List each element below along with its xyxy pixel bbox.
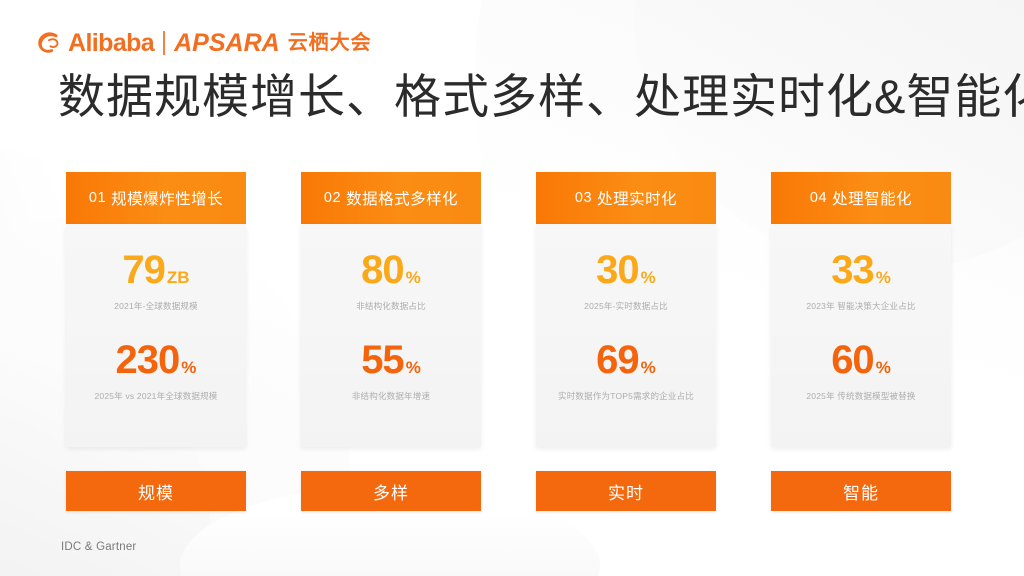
card-heading: 数据格式多样化 bbox=[346, 187, 458, 209]
conference-name-en: APSARA bbox=[174, 31, 280, 56]
stat-unit: % bbox=[181, 358, 196, 377]
stat-unit: % bbox=[641, 358, 656, 377]
card-number: 04 bbox=[810, 190, 827, 206]
stat-caption: 2025年 vs 2021年全球数据规模 bbox=[94, 390, 217, 402]
card-body: 30% 2025年-实时数据占比 69% 实时数据作为TOP5需求的企业占比 bbox=[536, 224, 716, 447]
card-header: 01 规模爆炸性增长 bbox=[66, 172, 246, 224]
card-body: 80% 非结构化数据占比 55% 非结构化数据年增速 bbox=[301, 224, 481, 447]
stat-secondary: 55% 非结构化数据年增速 bbox=[352, 340, 430, 402]
conference-name-cn: 云栖大会 bbox=[288, 33, 372, 53]
stat-card-group: 01 规模爆炸性增长 79ZB 2021年-全球数据规模 230% 2025年 … bbox=[66, 172, 961, 447]
stat-secondary: 60% 2025年 传统数据模型被替换 bbox=[806, 340, 915, 402]
card-header: 02 数据格式多样化 bbox=[301, 172, 481, 224]
stat-primary: 33% 2023年 智能决策大企业占比 bbox=[806, 250, 915, 312]
slide-content: Alibaba APSARA 云栖大会 数据规模增长、格式多样、处理实时化&智能… bbox=[0, 0, 1024, 576]
stat-primary: 30% 2025年-实时数据占比 bbox=[584, 250, 668, 312]
stat-primary: 79ZB 2021年-全球数据规模 bbox=[114, 250, 198, 312]
keyword-pill-variety[interactable]: 多样 bbox=[301, 471, 481, 511]
brand-name: Alibaba bbox=[68, 31, 154, 56]
stat-value: 33 bbox=[831, 250, 874, 290]
stat-value: 230 bbox=[116, 340, 180, 380]
stat-secondary: 230% 2025年 vs 2021年全球数据规模 bbox=[94, 340, 217, 402]
card-heading: 规模爆炸性增长 bbox=[111, 187, 223, 209]
card-number: 03 bbox=[575, 190, 592, 206]
keyword-pill-realtime[interactable]: 实时 bbox=[536, 471, 716, 511]
brand-logo-bar: Alibaba APSARA 云栖大会 bbox=[35, 28, 372, 58]
stat-secondary: 69% 实时数据作为TOP5需求的企业占比 bbox=[558, 340, 694, 402]
card-body: 79ZB 2021年-全球数据规模 230% 2025年 vs 2021年全球数… bbox=[66, 224, 246, 447]
stat-unit: % bbox=[876, 268, 891, 287]
stat-card: 04 处理智能化 33% 2023年 智能决策大企业占比 60% 2025年 传… bbox=[771, 172, 951, 447]
stat-unit: ZB bbox=[167, 268, 190, 287]
stat-value: 79 bbox=[122, 250, 165, 290]
stat-value: 60 bbox=[831, 340, 874, 380]
stat-value: 55 bbox=[361, 340, 404, 380]
stat-primary: 80% 非结构化数据占比 bbox=[356, 250, 426, 312]
stat-caption: 非结构化数据年增速 bbox=[352, 390, 430, 402]
stat-caption: 2025年 传统数据模型被替换 bbox=[806, 390, 915, 402]
stat-unit: % bbox=[876, 358, 891, 377]
card-number: 01 bbox=[89, 190, 106, 206]
card-number: 02 bbox=[324, 190, 341, 206]
stat-card: 01 规模爆炸性增长 79ZB 2021年-全球数据规模 230% 2025年 … bbox=[66, 172, 246, 447]
stat-unit: % bbox=[406, 268, 421, 287]
stat-caption: 非结构化数据占比 bbox=[356, 300, 426, 312]
source-footer: IDC & Gartner bbox=[61, 541, 136, 553]
keyword-pill-scale[interactable]: 规模 bbox=[66, 471, 246, 511]
keyword-pill-group: 规模 多样 实时 智能 bbox=[66, 471, 961, 511]
stat-value: 30 bbox=[596, 250, 639, 290]
stat-caption: 2023年 智能决策大企业占比 bbox=[806, 300, 915, 312]
stat-caption: 2025年-实时数据占比 bbox=[584, 300, 668, 312]
keyword-pill-intelligence[interactable]: 智能 bbox=[771, 471, 951, 511]
stat-value: 80 bbox=[361, 250, 404, 290]
card-header: 04 处理智能化 bbox=[771, 172, 951, 224]
stat-unit: % bbox=[641, 268, 656, 287]
brand-divider bbox=[163, 31, 165, 55]
stat-value: 69 bbox=[596, 340, 639, 380]
card-body: 33% 2023年 智能决策大企业占比 60% 2025年 传统数据模型被替换 bbox=[771, 224, 951, 447]
card-header: 03 处理实时化 bbox=[536, 172, 716, 224]
alibaba-logo-icon bbox=[35, 30, 63, 56]
page-title: 数据规模增长、格式多样、处理实时化&智能化 bbox=[58, 58, 1024, 127]
stat-caption: 2021年-全球数据规模 bbox=[114, 300, 198, 312]
stat-unit: % bbox=[406, 358, 421, 377]
stat-card: 03 处理实时化 30% 2025年-实时数据占比 69% 实时数据作为TOP5… bbox=[536, 172, 716, 447]
card-heading: 处理实时化 bbox=[597, 187, 677, 209]
stat-caption: 实时数据作为TOP5需求的企业占比 bbox=[558, 390, 694, 402]
card-heading: 处理智能化 bbox=[832, 187, 912, 209]
stat-card: 02 数据格式多样化 80% 非结构化数据占比 55% 非结构化数据年增速 bbox=[301, 172, 481, 447]
